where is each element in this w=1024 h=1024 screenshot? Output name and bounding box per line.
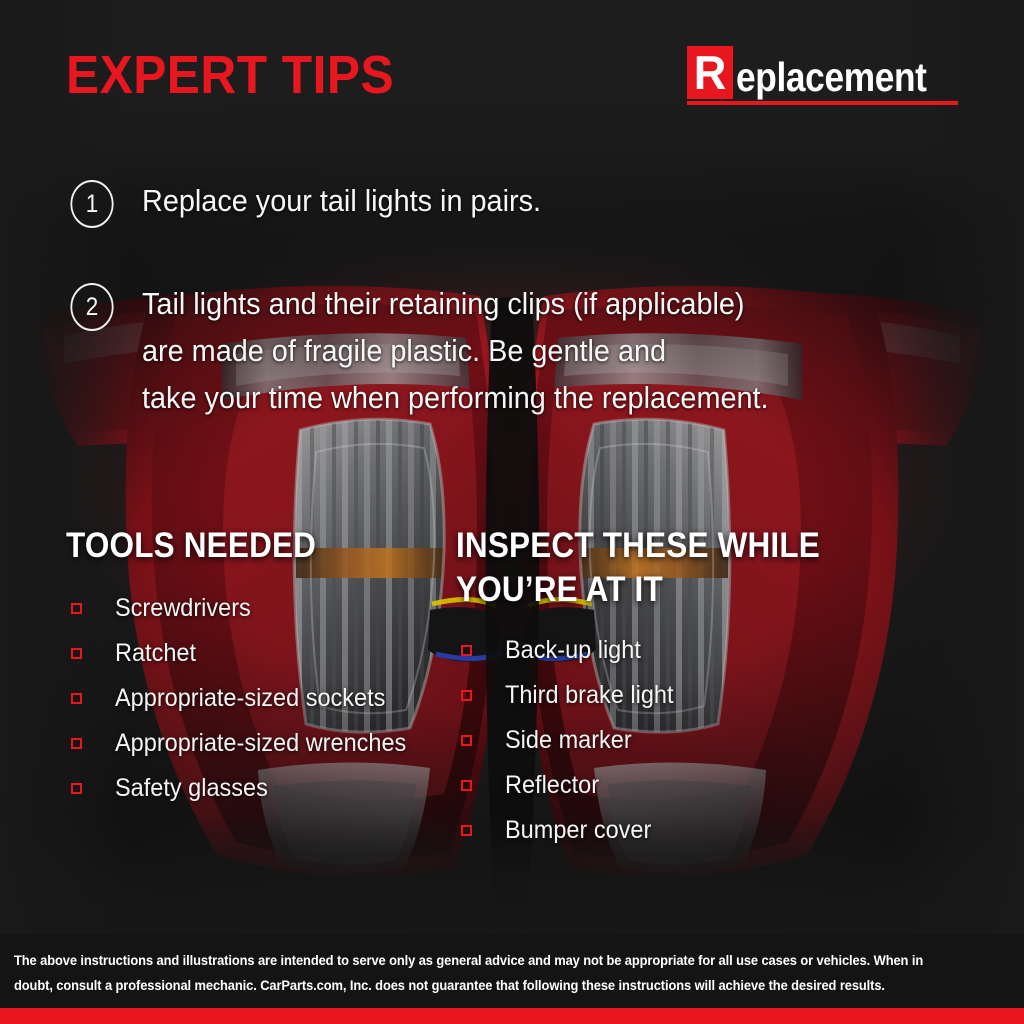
poster-canvas: EXPERT TIPS R eplacement 1 Replace your …: [0, 0, 1024, 1024]
list-item: Safety glasses: [66, 766, 456, 811]
tip-text-2: Tail lights and their retaining clips (i…: [142, 280, 769, 421]
checkbox-icon[interactable]: [71, 693, 82, 704]
checkbox-icon[interactable]: [461, 645, 472, 656]
list-item: Back-up light: [456, 628, 886, 673]
content-layer: EXPERT TIPS R eplacement 1 Replace your …: [0, 0, 1024, 1024]
list-item: Third brake light: [456, 673, 886, 718]
list-item-label: Third brake light: [505, 683, 673, 708]
list-item-label: Appropriate-sized sockets: [115, 686, 385, 711]
logo-underline: [687, 101, 958, 105]
tip-item-2: 2 Tail lights and their retaining clips …: [68, 283, 816, 421]
logo-row: R eplacement: [687, 46, 958, 99]
tools-needed-column: TOOLS NEEDED Screwdrivers Ratchet Approp…: [66, 524, 456, 811]
list-item-label: Screwdrivers: [115, 596, 251, 621]
tip-text-1: Replace your tail lights in pairs.: [142, 177, 541, 224]
list-item: Screwdrivers: [66, 586, 456, 631]
list-item-label: Safety glasses: [115, 776, 268, 801]
list-item-label: Back-up light: [505, 638, 641, 663]
tools-needed-heading: TOOLS NEEDED: [66, 524, 417, 568]
checkbox-icon[interactable]: [461, 780, 472, 791]
tip-number-badge-2: 2: [70, 283, 113, 331]
checkbox-icon[interactable]: [461, 690, 472, 701]
checkbox-icon[interactable]: [71, 648, 82, 659]
inspect-these-list: Back-up light Third brake light Side mar…: [456, 628, 886, 853]
logo-badge-letter: R: [687, 46, 733, 99]
tip-number-badge-1: 1: [70, 180, 113, 228]
page-title: EXPERT TIPS: [66, 44, 394, 106]
footer-accent-bar: [0, 1008, 1024, 1024]
list-item: Bumper cover: [456, 808, 886, 853]
footer-disclaimer-text: The above instructions and illustrations…: [14, 948, 958, 998]
list-item-label: Bumper cover: [505, 818, 651, 843]
footer-disclaimer-bar: The above instructions and illustrations…: [0, 934, 1024, 1008]
list-item-label: Reflector: [505, 773, 599, 798]
list-item: Appropriate-sized wrenches: [66, 721, 456, 766]
checkbox-icon[interactable]: [461, 825, 472, 836]
list-item-label: Side marker: [505, 728, 632, 753]
inspect-these-column: INSPECT THESE WHILE YOU’RE AT IT Back-up…: [456, 524, 886, 853]
inspect-these-heading: INSPECT THESE WHILE YOU’RE AT IT: [456, 524, 843, 612]
checkbox-icon[interactable]: [71, 603, 82, 614]
list-item-label: Appropriate-sized wrenches: [115, 731, 406, 756]
logo-wordmark: eplacement: [736, 57, 927, 99]
checkbox-icon[interactable]: [71, 738, 82, 749]
replacement-logo: R eplacement: [687, 46, 958, 105]
checkbox-icon[interactable]: [461, 735, 472, 746]
list-item: Side marker: [456, 718, 886, 763]
checkbox-icon[interactable]: [71, 783, 82, 794]
list-item-label: Ratchet: [115, 641, 196, 666]
tip-item-1: 1 Replace your tail lights in pairs.: [68, 180, 571, 228]
tools-needed-list: Screwdrivers Ratchet Appropriate-sized s…: [66, 586, 456, 811]
list-item: Reflector: [456, 763, 886, 808]
list-item: Appropriate-sized sockets: [66, 676, 456, 721]
list-item: Ratchet: [66, 631, 456, 676]
